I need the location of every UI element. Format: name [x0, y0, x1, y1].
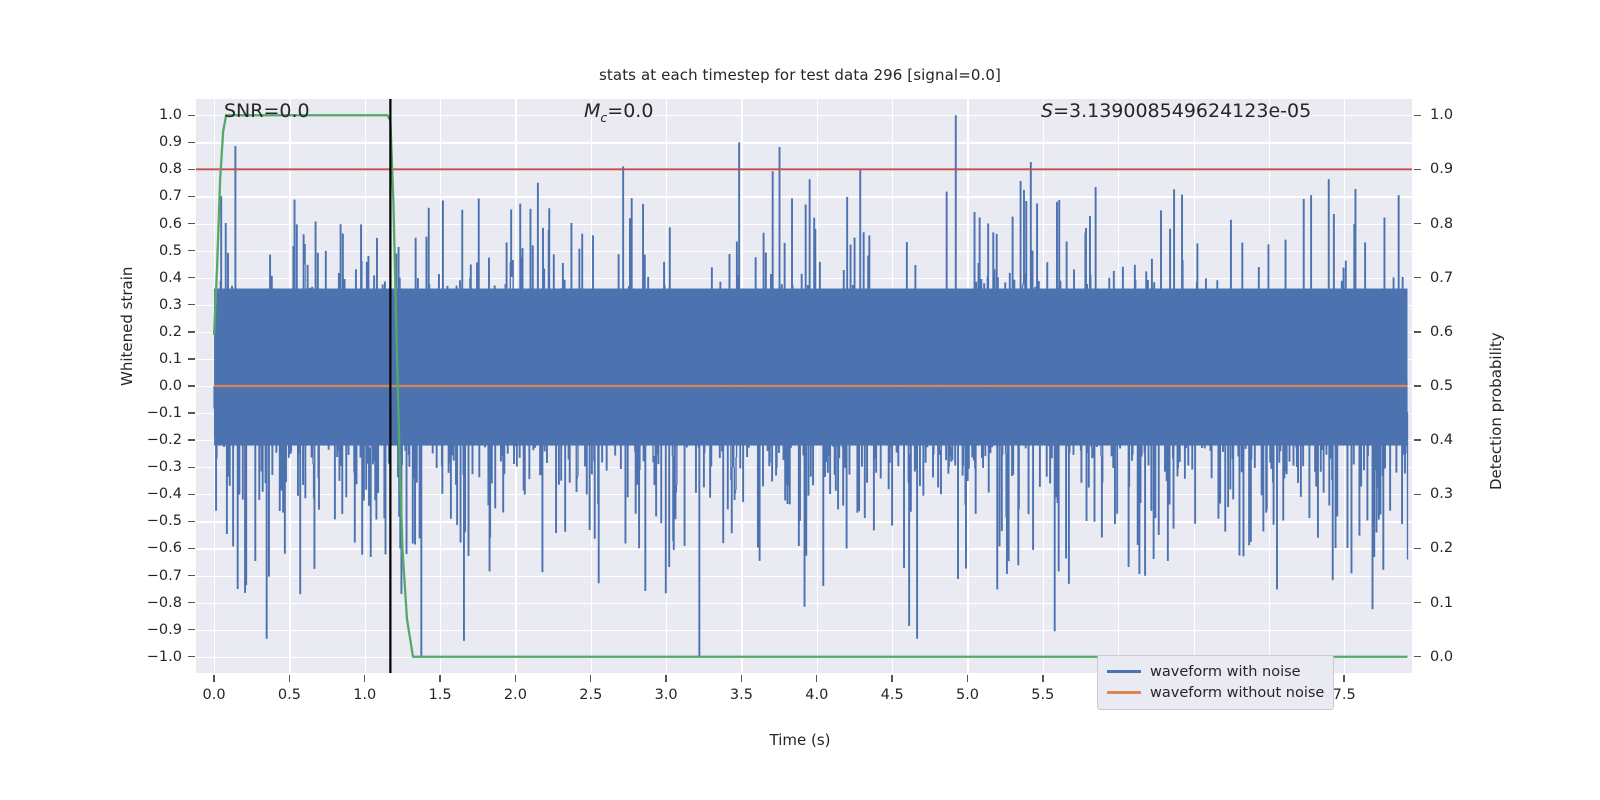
y-axis-left-tick-mark [188, 412, 195, 413]
x-axis-tick-label: 0.0 [203, 687, 226, 703]
overlay-curves [196, 99, 1412, 673]
x-axis-tick-label: 5.5 [1031, 687, 1054, 703]
y-axis-left-label: Whitened strain [118, 267, 136, 386]
y-axis-left-tick-mark [188, 575, 195, 576]
chirp-mass-symbol: M [584, 100, 600, 122]
y-axis-left-tick-mark [188, 656, 195, 657]
y-axis-left-tick-label: −0.5 [134, 513, 182, 529]
y-axis-left-tick-label: −0.7 [134, 568, 182, 584]
y-axis-right-tick-mark [1414, 223, 1421, 224]
y-axis-left-tick-label: 0.2 [134, 324, 182, 340]
y-axis-right-tick-label: 0.9 [1430, 161, 1453, 177]
annotation-chirp-mass: Mc=0.0 [584, 100, 653, 125]
y-axis-left-tick-mark [188, 629, 195, 630]
y-axis-left-tick-label: 0.4 [134, 270, 182, 286]
x-axis-tick-mark [665, 675, 666, 682]
x-axis-tick-label: 2.5 [579, 687, 602, 703]
x-axis-tick-label: 0.5 [278, 687, 301, 703]
annotation-snr: SNR=0.0 [224, 100, 310, 122]
y-axis-left-tick-label: 0.0 [134, 378, 182, 394]
x-axis-tick-mark [515, 675, 516, 682]
y-axis-right-tick-label: 0.5 [1430, 378, 1453, 394]
x-axis-tick-mark [439, 675, 440, 682]
y-axis-right-tick-mark [1414, 602, 1421, 603]
y-axis-right-tick-mark [1414, 385, 1421, 386]
x-axis-tick-mark [590, 675, 591, 682]
x-axis-tick-mark [1343, 675, 1344, 682]
y-axis-right-tick-label: 1.0 [1430, 107, 1453, 123]
legend-color-swatch [1107, 670, 1141, 672]
legend[interactable]: waveform with noisewaveform without nois… [1097, 655, 1334, 710]
y-axis-left-tick-label: −0.8 [134, 595, 182, 611]
y-axis-right-tick-label: 0.3 [1430, 486, 1453, 502]
y-axis-left-tick-label: −0.9 [134, 622, 182, 638]
x-axis-tick-mark [816, 675, 817, 682]
plot-axes[interactable] [196, 99, 1412, 673]
y-axis-right-tick-label: 0.0 [1430, 649, 1453, 665]
y-axis-left-tick-mark [188, 358, 195, 359]
y-axis-right-tick-mark [1414, 494, 1421, 495]
y-axis-right-tick-mark [1414, 169, 1421, 170]
x-axis-tick-label: 2.0 [504, 687, 527, 703]
y-axis-left-tick-mark [188, 223, 195, 224]
y-axis-right-tick-label: 0.6 [1430, 324, 1453, 340]
y-axis-left-tick-mark [188, 169, 195, 170]
y-axis-right-tick-label: 0.7 [1430, 270, 1453, 286]
x-axis-tick-mark [213, 675, 214, 682]
y-axis-left-tick-mark [188, 277, 195, 278]
x-axis-tick-mark [289, 675, 290, 682]
legend-item[interactable]: waveform without noise [1107, 682, 1324, 703]
y-axis-left-tick-mark [188, 494, 195, 495]
y-axis-right-tick-mark [1414, 115, 1421, 116]
y-axis-left-tick-mark [188, 602, 195, 603]
y-axis-left-tick-label: −0.2 [134, 432, 182, 448]
y-axis-left-tick-label: −0.3 [134, 459, 182, 475]
score-value: 3.139008549624123e-05 [1069, 100, 1311, 122]
chirp-mass-equals: = [607, 100, 623, 122]
y-axis-right-tick-label: 0.2 [1430, 540, 1453, 556]
x-axis-tick-label: 4.5 [881, 687, 904, 703]
y-axis-right-tick-mark [1414, 439, 1421, 440]
y-axis-left-tick-mark [188, 115, 195, 116]
score-equals: = [1053, 100, 1069, 122]
legend-item-label: waveform with noise [1150, 664, 1301, 680]
x-axis-tick-label: 5.0 [956, 687, 979, 703]
y-axis-left-tick-mark [188, 142, 195, 143]
y-axis-left-tick-label: 0.1 [134, 351, 182, 367]
y-axis-left-tick-label: 0.5 [134, 243, 182, 259]
y-axis-left-tick-label: −1.0 [134, 649, 182, 665]
x-axis-label: Time (s) [0, 731, 1600, 749]
x-axis-tick-label: 1.5 [429, 687, 452, 703]
y-axis-left-tick-label: −0.6 [134, 540, 182, 556]
x-axis-tick-mark [364, 675, 365, 682]
figure-canvas: stats at each timestep for test data 296… [0, 0, 1600, 800]
legend-item-label: waveform without noise [1150, 685, 1324, 701]
x-axis-tick-label: 4.0 [805, 687, 828, 703]
y-axis-left-tick-mark [188, 304, 195, 305]
y-axis-left-tick-mark [188, 331, 195, 332]
y-axis-right-tick-mark [1414, 548, 1421, 549]
y-axis-right-tick-mark [1414, 277, 1421, 278]
y-axis-right-label: Detection probability [1487, 332, 1505, 490]
x-axis-tick-label: 1.0 [353, 687, 376, 703]
y-axis-left-tick-label: 0.7 [134, 188, 182, 204]
x-axis-tick-label: 3.0 [655, 687, 678, 703]
y-axis-left-tick-label: −0.4 [134, 486, 182, 502]
y-axis-right-tick-mark [1414, 656, 1421, 657]
y-axis-left-tick-label: 0.3 [134, 297, 182, 313]
page-title: stats at each timestep for test data 296… [0, 66, 1600, 84]
chirp-mass-value: 0.0 [623, 100, 653, 122]
y-axis-left-tick-mark [188, 467, 195, 468]
x-axis-tick-mark [1042, 675, 1043, 682]
y-axis-left-tick-mark [188, 250, 195, 251]
y-axis-left-tick-label: 0.6 [134, 216, 182, 232]
score-symbol: S [1041, 100, 1053, 122]
y-axis-left-tick-label: 1.0 [134, 107, 182, 123]
x-axis-tick-mark [967, 675, 968, 682]
x-axis-tick-label: 3.5 [730, 687, 753, 703]
legend-item[interactable]: waveform with noise [1107, 661, 1324, 682]
x-axis-tick-mark [741, 675, 742, 682]
y-axis-right-tick-label: 0.1 [1430, 595, 1453, 611]
y-axis-right-tick-mark [1414, 331, 1421, 332]
y-axis-left-tick-mark [188, 196, 195, 197]
y-axis-right-tick-label: 0.4 [1430, 432, 1453, 448]
y-axis-left-tick-label: 0.9 [134, 134, 182, 150]
y-axis-left-tick-label: −0.1 [134, 405, 182, 421]
x-axis-tick-label: 7.5 [1333, 687, 1356, 703]
y-axis-left-tick-mark [188, 439, 195, 440]
y-axis-left-tick-mark [188, 548, 195, 549]
y-axis-left-tick-mark [188, 385, 195, 386]
legend-color-swatch [1107, 691, 1141, 693]
annotation-score: S=3.139008549624123e-05 [1041, 100, 1311, 122]
x-axis-tick-mark [891, 675, 892, 682]
y-axis-left-tick-label: 0.8 [134, 161, 182, 177]
y-axis-left-tick-mark [188, 521, 195, 522]
y-axis-right-tick-label: 0.8 [1430, 216, 1453, 232]
